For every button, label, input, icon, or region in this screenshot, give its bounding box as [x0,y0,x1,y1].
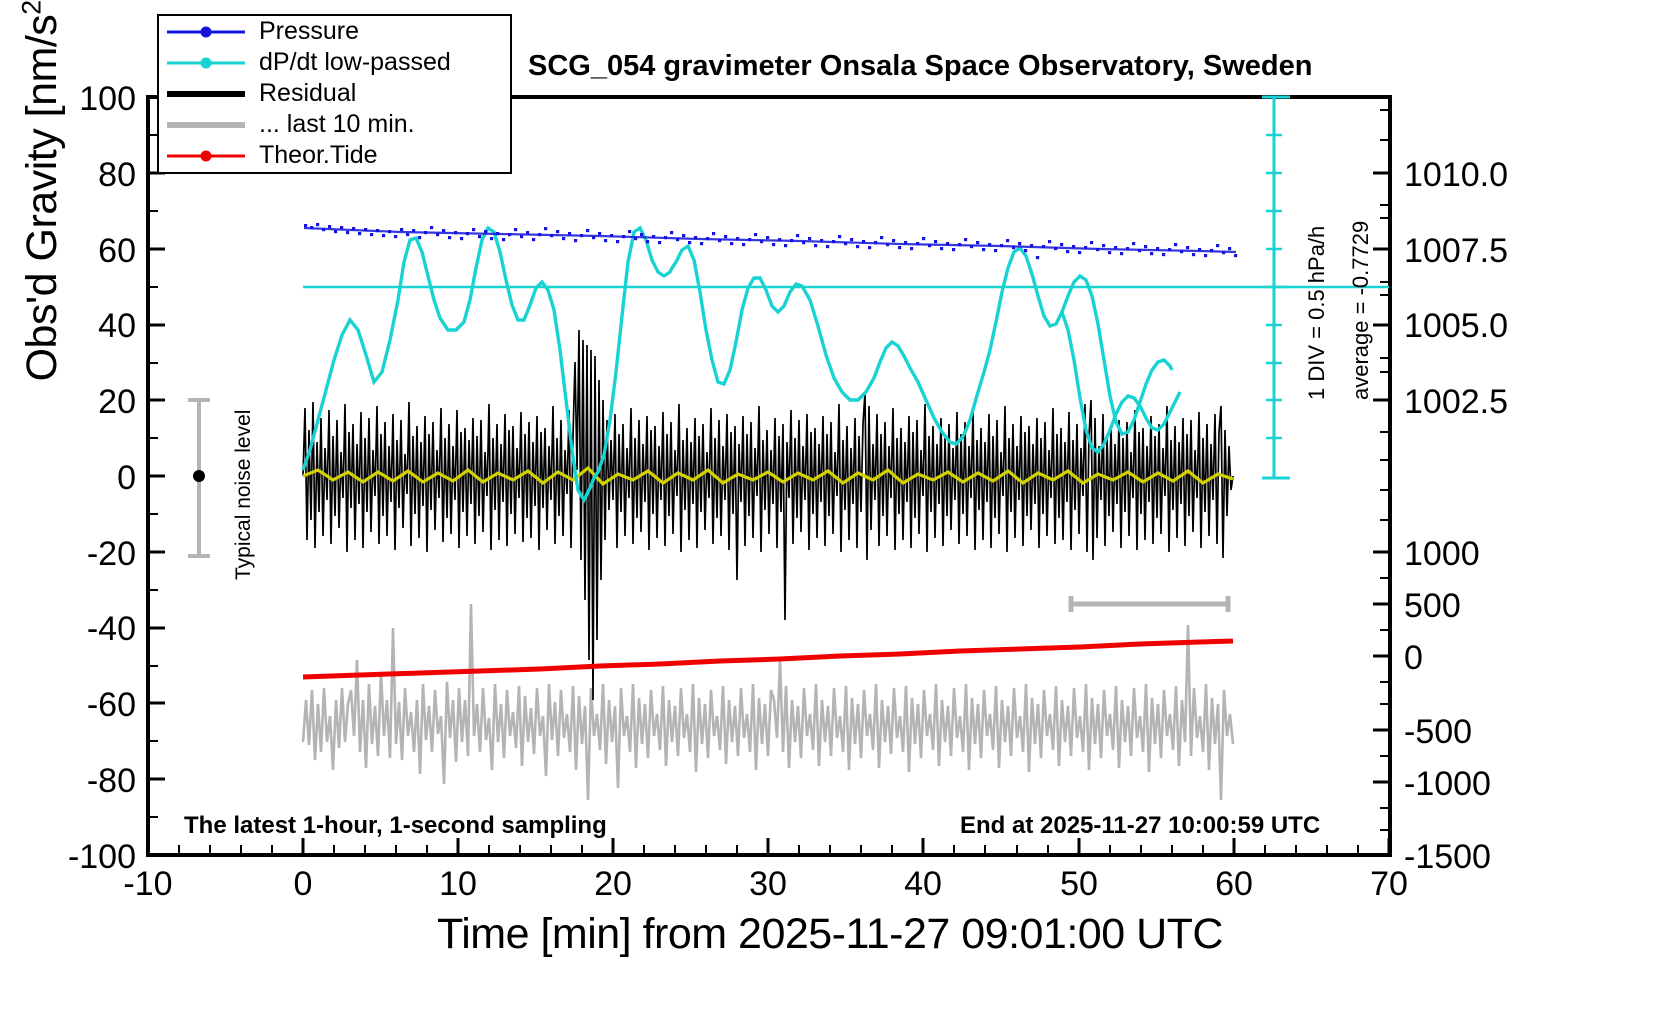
chart-title: SCG_054 gravimeter Onsala Space Observat… [528,50,1312,83]
x-tick-labels: -10 0 10 20 30 40 50 60 70 [123,865,1407,903]
legend-label: ... last 10 min. [245,110,415,139]
footer-note-left: The latest 1-hour, 1-second sampling [184,812,607,840]
tide-tick-label: 0 [1404,639,1423,677]
x-tick-label: 10 [439,865,477,903]
legend-label: Pressure [245,17,359,46]
legend-swatch-residual [167,84,245,104]
y-tick-label: -60 [87,686,136,724]
y-tick-label: -20 [87,535,136,573]
tide-tick-label: 500 [1404,587,1461,625]
x-tick-label: 30 [749,865,787,903]
legend-label: dP/dt low-passed [245,48,451,77]
scale-bar-marker [1071,596,1228,612]
dpdt-average-label: average = -0.7729 [1348,221,1374,400]
legend-item-residual[interactable]: Residual [159,78,510,109]
legend-item-pressure[interactable]: Pressure [159,16,510,47]
dpdt-scale-bar [1262,97,1290,478]
legend-swatch-pressure [167,22,245,42]
legend-label: Theor.Tide [245,141,378,170]
x-tick-label: 70 [1370,865,1408,903]
y-tick-labels-tide: 1000 500 0 -500 -1000 -1500 [1404,535,1491,876]
series-last10 [303,604,1233,800]
y-axis-right-ticks [1373,110,1390,855]
pressure-tick-label: 1002.5 [1404,383,1508,421]
typical-noise-level-label: Typical noise level [232,410,256,580]
y-tick-label: -100 [68,838,136,876]
pressure-tick-label: 1005.0 [1404,307,1508,345]
tide-tick-label: -500 [1404,713,1472,751]
y-tick-label: 60 [98,232,136,270]
x-tick-label: 50 [1060,865,1098,903]
legend-swatch-theor-tide [167,146,245,166]
y-tick-labels-pressure: 1010.0 1007.5 1005.0 1002.5 [1404,156,1508,421]
y-tick-label: 80 [98,156,136,194]
tide-tick-label: 1000 [1404,535,1480,573]
y-tick-labels-left: 100 80 60 40 20 0 -20 -40 -60 -80 -100 [68,80,136,876]
typical-noise-errorbar [188,400,210,556]
x-tick-label: 40 [904,865,942,903]
legend-item-last10[interactable]: ... last 10 min. [159,109,510,140]
legend-swatch-dpdt [167,53,245,73]
pressure-tick-label: 1007.5 [1404,232,1508,270]
legend-label: Residual [245,79,356,108]
y-tick-label: 0 [117,459,136,497]
x-tick-label: 0 [294,865,313,903]
legend-item-theor-tide[interactable]: Theor.Tide [159,140,510,171]
series-theor-tide [303,641,1233,677]
pressure-tick-label: 1010.0 [1404,156,1508,194]
x-axis-ticks [148,838,1389,855]
y-tick-label: -80 [87,762,136,800]
x-tick-label: 60 [1215,865,1253,903]
y-axis-left-ticks [148,97,165,855]
tide-tick-label: -1000 [1404,765,1491,803]
legend-item-dpdt[interactable]: dP/dt low-passed [159,47,510,78]
y-tick-label: 20 [98,383,136,421]
x-tick-label: 20 [594,865,632,903]
y-tick-label: 100 [79,80,136,118]
dpdt-scale-label: 1 DIV = 0.5 hPa/h [1304,226,1330,400]
y-tick-label: 40 [98,307,136,345]
legend-swatch-last10 [167,115,245,135]
chart-root: Obs'd Gravity [nm/s2] Pressure [hPa] Tid… [0,0,1660,1020]
y-tick-label: -40 [87,610,136,648]
footer-note-right: End at 2025-11-27 10:00:59 UTC [960,812,1320,840]
legend: Pressure dP/dt low-passed Residual ... l… [157,14,512,174]
tide-tick-label: -1500 [1404,838,1491,876]
